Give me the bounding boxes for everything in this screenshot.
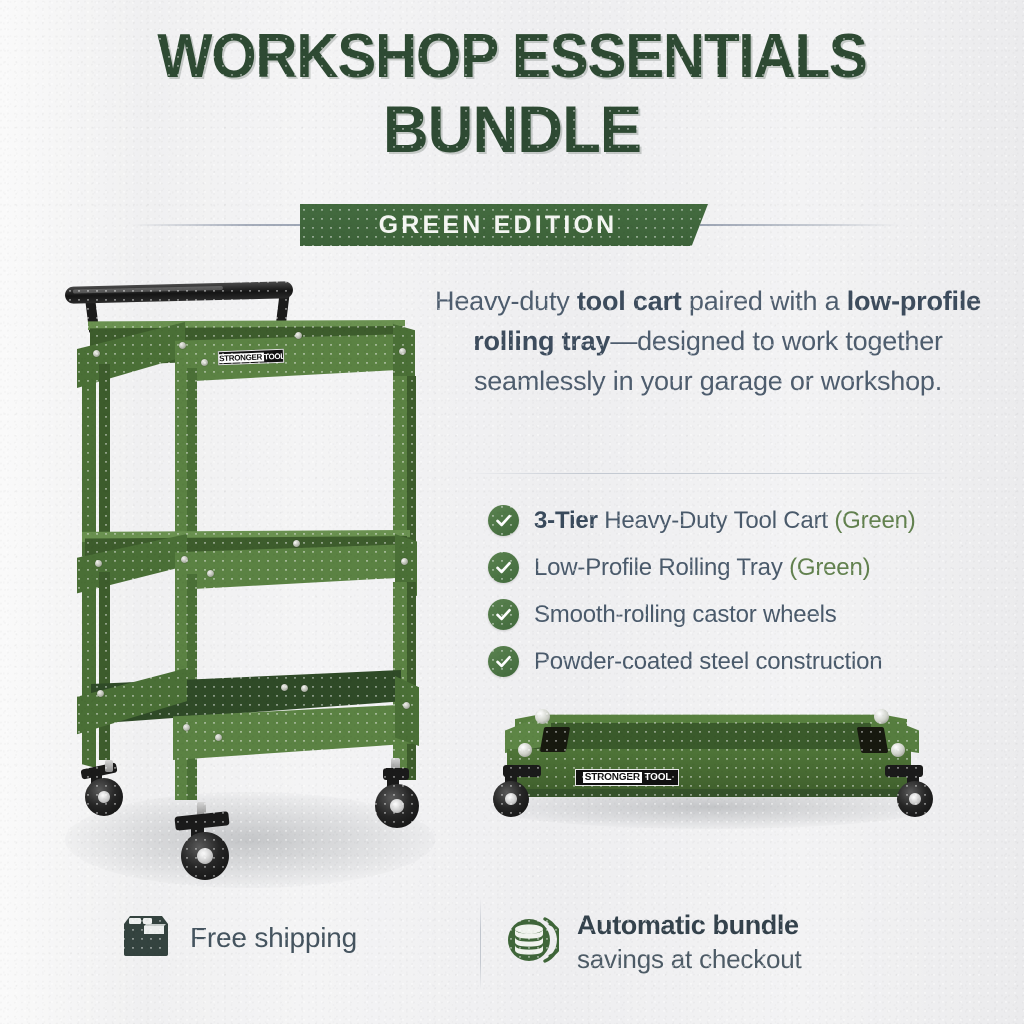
- tray-slot-right: [857, 727, 889, 753]
- cart-screw: [401, 558, 408, 565]
- cart-leg-back-left: [82, 370, 96, 560]
- product-marketing-graphic: WORKSHOP ESSENTIALS BUNDLE GREEN EDITION…: [0, 0, 1024, 1024]
- page-title-line2: BUNDLE: [20, 96, 1003, 162]
- bundle-title: Automatic bundle: [577, 908, 802, 942]
- tray-slot-left: [540, 727, 570, 752]
- feature-note: (Green): [789, 554, 870, 581]
- desc-part2: paired with a: [682, 286, 847, 316]
- footer-divider: [480, 898, 481, 990]
- cart-screw: [179, 342, 186, 349]
- cart-screw: [183, 724, 190, 731]
- ribbon-rule-right: [700, 224, 900, 226]
- cart-screw: [403, 702, 410, 709]
- cart-top-front-face: [175, 334, 407, 382]
- feature-list: 3-Tier Heavy-Duty Tool Cart (Green) Low-…: [488, 497, 998, 685]
- cart-screw: [295, 332, 302, 339]
- cart-leg-inner-left-lower: [99, 572, 110, 760]
- product-image-rolling-tray: STRONGER TOOL: [487, 697, 937, 837]
- edition-ribbon-label: GREEN EDITION: [379, 211, 630, 240]
- ribbon-rule-left: [132, 224, 322, 226]
- cart-leg-back-left-lower: [82, 578, 96, 768]
- tray-knob: [535, 709, 550, 724]
- edition-ribbon: GREEN EDITION: [300, 204, 708, 246]
- cart-leg-front-right-lower-edge: [407, 582, 416, 780]
- footer-badge-bundle: Automatic bundle savings at checkout: [505, 908, 802, 976]
- tray-brand-badge: STRONGER TOOL: [575, 769, 679, 786]
- feature-main: Smooth-rolling castor wheels: [534, 601, 837, 628]
- bundle-text-block: Automatic bundle savings at checkout: [577, 908, 802, 976]
- cart-bottom-right-corner: [395, 676, 419, 746]
- feature-label: Powder-coated steel construction: [534, 648, 882, 676]
- cart-screw: [215, 734, 222, 741]
- feature-main: Heavy-Duty Tool Cart: [598, 507, 835, 534]
- cart-screw: [201, 359, 208, 366]
- check-circle-icon: [488, 646, 519, 677]
- cart-screw: [301, 685, 308, 692]
- page-title-line1: WORKSHOP ESSENTIALS: [31, 26, 994, 88]
- feature-bold: 3-Tier: [534, 507, 598, 534]
- feature-main: Low-Profile Rolling Tray: [534, 554, 789, 581]
- tray-brand-tool: TOOL: [644, 772, 671, 783]
- cart-screw: [399, 348, 406, 355]
- cart-screw: [95, 560, 102, 567]
- tray-knob: [891, 743, 905, 757]
- cart-brand-badge: STRONGERTOOL: [218, 349, 284, 366]
- cart-screw: [93, 350, 100, 357]
- feature-note: (Green): [834, 507, 915, 534]
- desc-bold1: tool cart: [577, 286, 682, 316]
- feature-item: Low-Profile Rolling Tray (Green): [488, 544, 998, 591]
- bundle-subtitle: savings at checkout: [577, 942, 802, 976]
- cart-screw: [281, 684, 288, 691]
- check-circle-icon: [488, 552, 519, 583]
- feature-label: Low-Profile Rolling Tray (Green): [534, 554, 870, 582]
- tray-front-lip: [507, 789, 911, 797]
- tray-knob: [874, 709, 889, 724]
- cart-leg-inner-left: [99, 364, 110, 552]
- cart-screw: [293, 540, 300, 547]
- feature-item: Powder-coated steel construction: [488, 638, 998, 685]
- feature-main: Powder-coated steel construction: [534, 648, 882, 675]
- tray-knob: [518, 743, 532, 757]
- footer-badge-shipping: Free shipping: [120, 912, 357, 963]
- cart-screw: [97, 690, 104, 697]
- edition-ribbon-row: GREEN EDITION: [0, 204, 1024, 246]
- check-circle-icon: [488, 505, 519, 536]
- feature-label: Smooth-rolling castor wheels: [534, 601, 837, 629]
- feature-label: 3-Tier Heavy-Duty Tool Cart (Green): [534, 507, 916, 535]
- tray-brand-strong: STRONGER: [583, 772, 642, 783]
- package-box-icon: [120, 912, 172, 963]
- free-shipping-label: Free shipping: [190, 922, 357, 954]
- product-description: Heavy-duty tool cart paired with a low-p…: [432, 281, 984, 401]
- coin-stack-icon: [505, 913, 559, 972]
- product-image-tool-cart: STRONGERTOOL: [55, 272, 455, 892]
- cart-brand-strong: STRONGER: [218, 352, 264, 363]
- cart-handle-grip: [65, 281, 293, 304]
- cart-brand-tool: TOOL: [264, 351, 284, 361]
- feature-item: 3-Tier Heavy-Duty Tool Cart (Green): [488, 497, 998, 544]
- desc-part1: Heavy-duty: [435, 286, 577, 316]
- cart-screw: [207, 570, 214, 577]
- section-divider: [464, 473, 954, 474]
- cart-screw: [181, 556, 188, 563]
- headline-block: WORKSHOP ESSENTIALS BUNDLE: [0, 26, 1024, 162]
- check-circle-icon: [488, 599, 519, 630]
- feature-item: Smooth-rolling castor wheels: [488, 591, 998, 638]
